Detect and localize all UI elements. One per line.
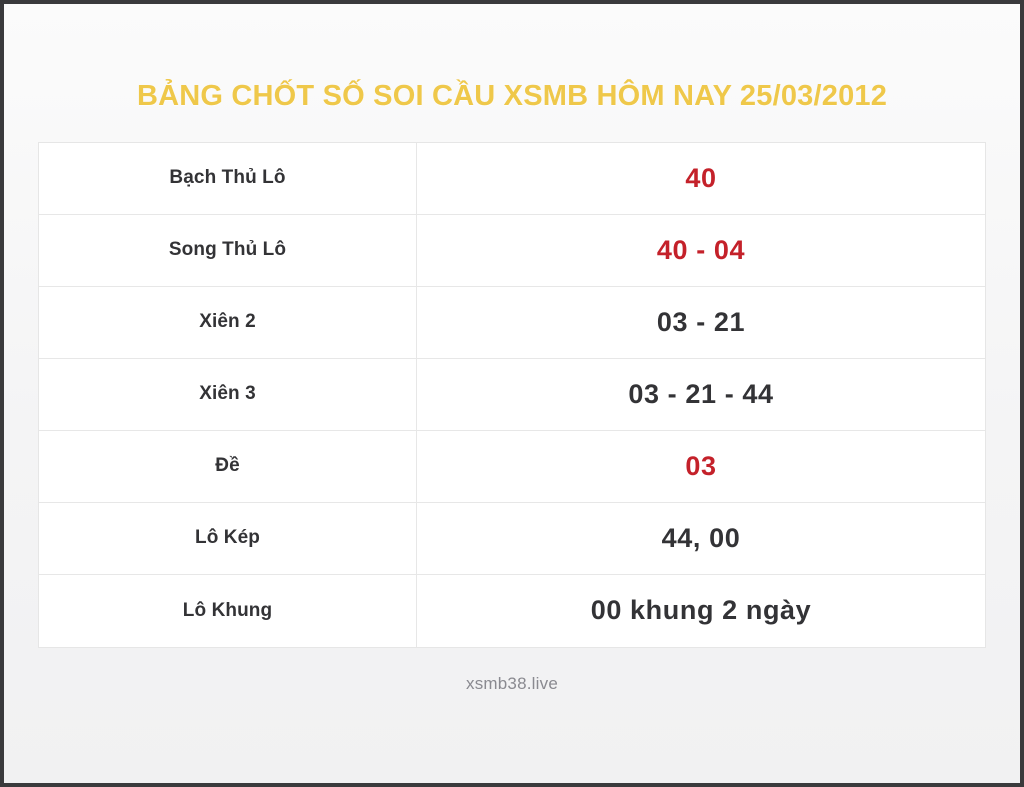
row-value: 44, 00 xyxy=(417,503,985,575)
row-label: Lô Khung xyxy=(39,575,417,647)
row-value: 03 xyxy=(417,431,985,503)
row-value: 03 - 21 xyxy=(417,287,985,359)
row-label: Lô Kép xyxy=(39,503,417,575)
table-row: Đề 03 xyxy=(39,431,985,503)
table-row: Bạch Thủ Lô 40 xyxy=(39,143,985,215)
row-value: 00 khung 2 ngày xyxy=(417,575,985,647)
result-card: BẢNG CHỐT SỐ SOI CẦU XSMB HÔM NAY 25/03/… xyxy=(4,4,1020,783)
prediction-table: Bạch Thủ Lô 40 Song Thủ Lô 40 - 04 Xiên … xyxy=(38,142,986,648)
row-label: Bạch Thủ Lô xyxy=(39,143,417,215)
row-value: 03 - 21 - 44 xyxy=(417,359,985,431)
page-frame: BẢNG CHỐT SỐ SOI CẦU XSMB HÔM NAY 25/03/… xyxy=(4,4,1020,783)
row-label: Xiên 2 xyxy=(39,287,417,359)
row-value: 40 xyxy=(417,143,985,215)
table-row: Xiên 3 03 - 21 - 44 xyxy=(39,359,985,431)
table-row: Lô Kép 44, 00 xyxy=(39,503,985,575)
site-watermark: xsmb38.live xyxy=(466,674,558,694)
table-row: Song Thủ Lô 40 - 04 xyxy=(39,215,985,287)
page-title: BẢNG CHỐT SỐ SOI CẦU XSMB HÔM NAY 25/03/… xyxy=(137,81,887,113)
row-label: Song Thủ Lô xyxy=(39,215,417,287)
row-value: 40 - 04 xyxy=(417,215,985,287)
table-row: Xiên 2 03 - 21 xyxy=(39,287,985,359)
row-label: Đề xyxy=(39,431,417,503)
table-row: Lô Khung 00 khung 2 ngày xyxy=(39,575,985,647)
prediction-table-body: Bạch Thủ Lô 40 Song Thủ Lô 40 - 04 Xiên … xyxy=(39,143,985,647)
row-label: Xiên 3 xyxy=(39,359,417,431)
